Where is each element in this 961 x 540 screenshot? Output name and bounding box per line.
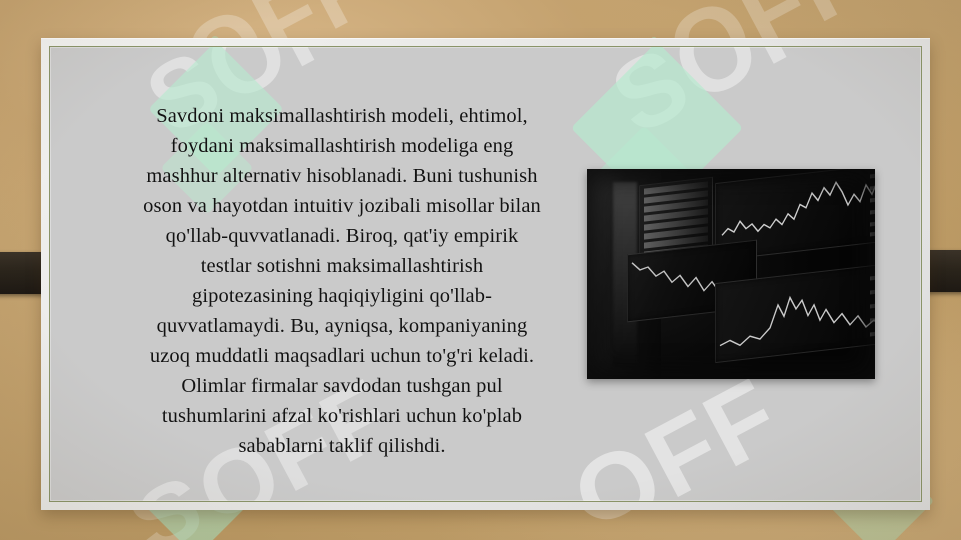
board-watermark-top-right: SOFF	[594, 46, 890, 158]
photo-tick-marks	[868, 169, 875, 243]
slide-surface: SOFF SOFF OFF SOFF Savdoni maksimallasht…	[49, 46, 922, 502]
slide-body-line: quvvatlamaydi. Bu, ayniqsa, kompaniyanin…	[157, 315, 528, 337]
slide-body-line: oson va hayotdan intuitiv jozibali misol…	[143, 195, 541, 217]
slide-body-line: qo'llab-quvvatlanadi. Biroq, qat'iy empi…	[166, 225, 519, 247]
slide-stage: SOFF SOFF OFF SOFF SO SOFF SOFF OFF SOFF…	[0, 0, 961, 540]
slide-body-line: uzoq muddatli maqsadlari uchun to'g'ri k…	[150, 345, 534, 367]
slide-body-line: mashhur alternativ hisoblanadi. Buni tus…	[146, 165, 537, 187]
photo-tick-marks	[868, 264, 875, 345]
slide-body-line: testlar sotishni maksimallashtirish	[201, 255, 484, 277]
slide-body-text: Savdoni maksimallashtirish modeli, ehtim…	[102, 101, 582, 461]
slide-body-line: gipotezasining haqiqiyligini qo'llab-	[192, 285, 492, 307]
slide-body-line: Olimlar firmalar savdodan tushgan pul	[181, 375, 502, 397]
trading-screens-photo	[587, 169, 875, 379]
slide-body-line: foydani maksimallashtirish modeliga eng	[171, 135, 514, 157]
slide-body-line: sabablarni taklif qilishdi.	[238, 435, 445, 457]
presentation-board: SOFF SOFF OFF SOFF Savdoni maksimallasht…	[41, 38, 930, 510]
slide-body-line: tushumlarini afzal ko'rishlari uchun ko'…	[162, 405, 522, 427]
slide-body-line: Savdoni maksimallashtirish modeli, ehtim…	[156, 105, 528, 127]
